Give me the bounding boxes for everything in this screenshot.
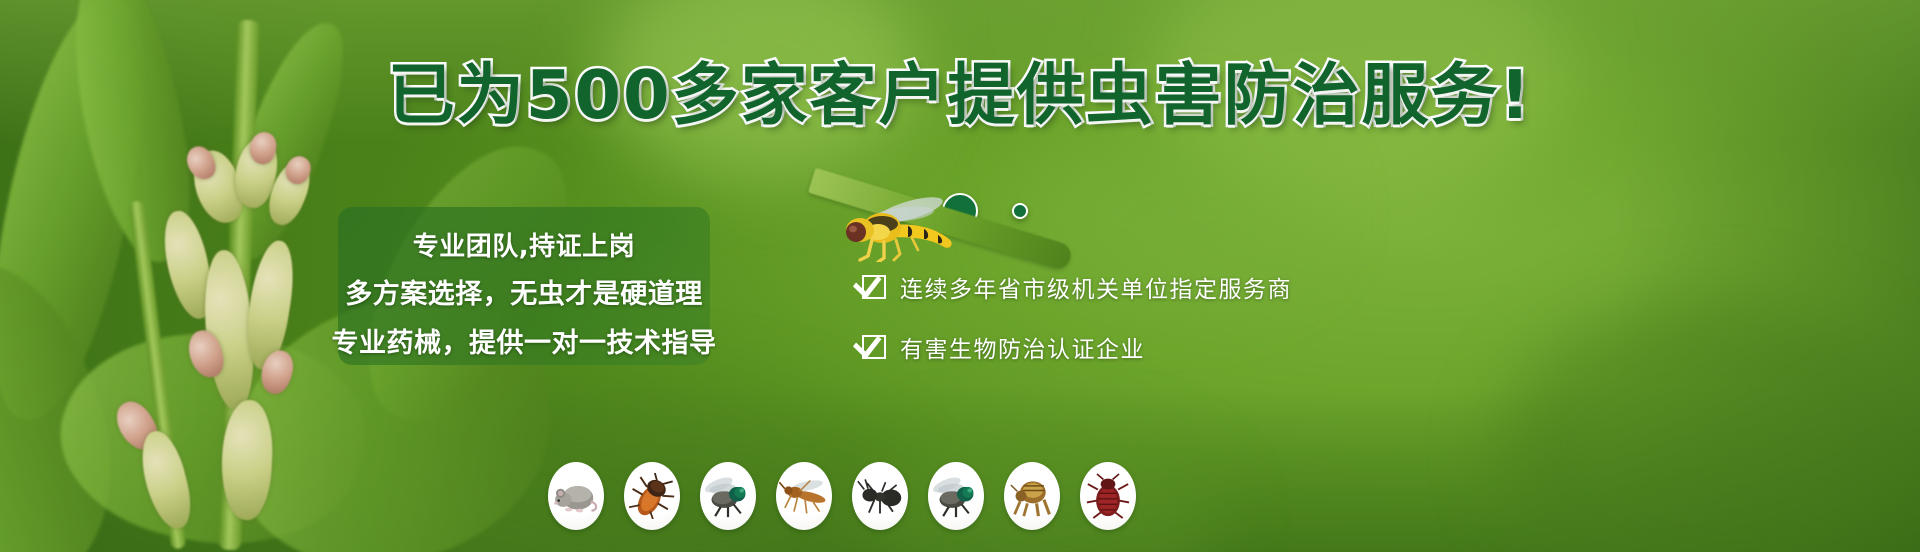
mosquito-icon[interactable] — [776, 462, 832, 530]
checklist-item-label: 连续多年省市级机关单位指定服务商 — [900, 270, 1292, 304]
mouse-icon[interactable] — [548, 462, 604, 530]
feature-line-1: 专业团队,持证上岗 — [413, 226, 635, 263]
fly-icon[interactable] — [700, 462, 756, 530]
fly-icon[interactable] — [928, 462, 984, 530]
pest-icon-row — [548, 462, 1136, 530]
feature-line-3: 专业药械，提供一对一技术指导 — [332, 321, 717, 360]
cockroach-icon[interactable] — [624, 462, 680, 530]
checklist-item-label: 有害生物防治认证企业 — [900, 330, 1145, 364]
ant-icon[interactable] — [852, 462, 908, 530]
checklist-item: 连续多年省市级机关单位指定服务商 — [862, 270, 1292, 304]
flea-icon[interactable] — [1004, 462, 1060, 530]
feature-panel: 专业团队,持证上岗 多方案选择，无虫才是硬道理 专业药械，提供一对一技术指导 — [338, 207, 710, 365]
checkmark-icon — [862, 335, 886, 359]
promo-banner: 已为500多家客户提供虫害防治服务! — [0, 0, 1920, 552]
checklist-item: 有害生物防治认证企业 — [862, 330, 1292, 364]
page-title-text: 已为500多家客户提供虫害防治服务! — [388, 56, 1532, 134]
hoverfly-photo — [838, 192, 968, 262]
certification-checklist: 连续多年省市级机关单位指定服务商 有害生物防治认证企业 — [862, 270, 1292, 364]
page-title: 已为500多家客户提供虫害防治服务! — [0, 62, 1920, 129]
bedbug-icon[interactable] — [1080, 462, 1136, 530]
checkmark-icon — [862, 275, 886, 299]
feature-line-2: 多方案选择，无虫才是硬道理 — [345, 272, 703, 311]
